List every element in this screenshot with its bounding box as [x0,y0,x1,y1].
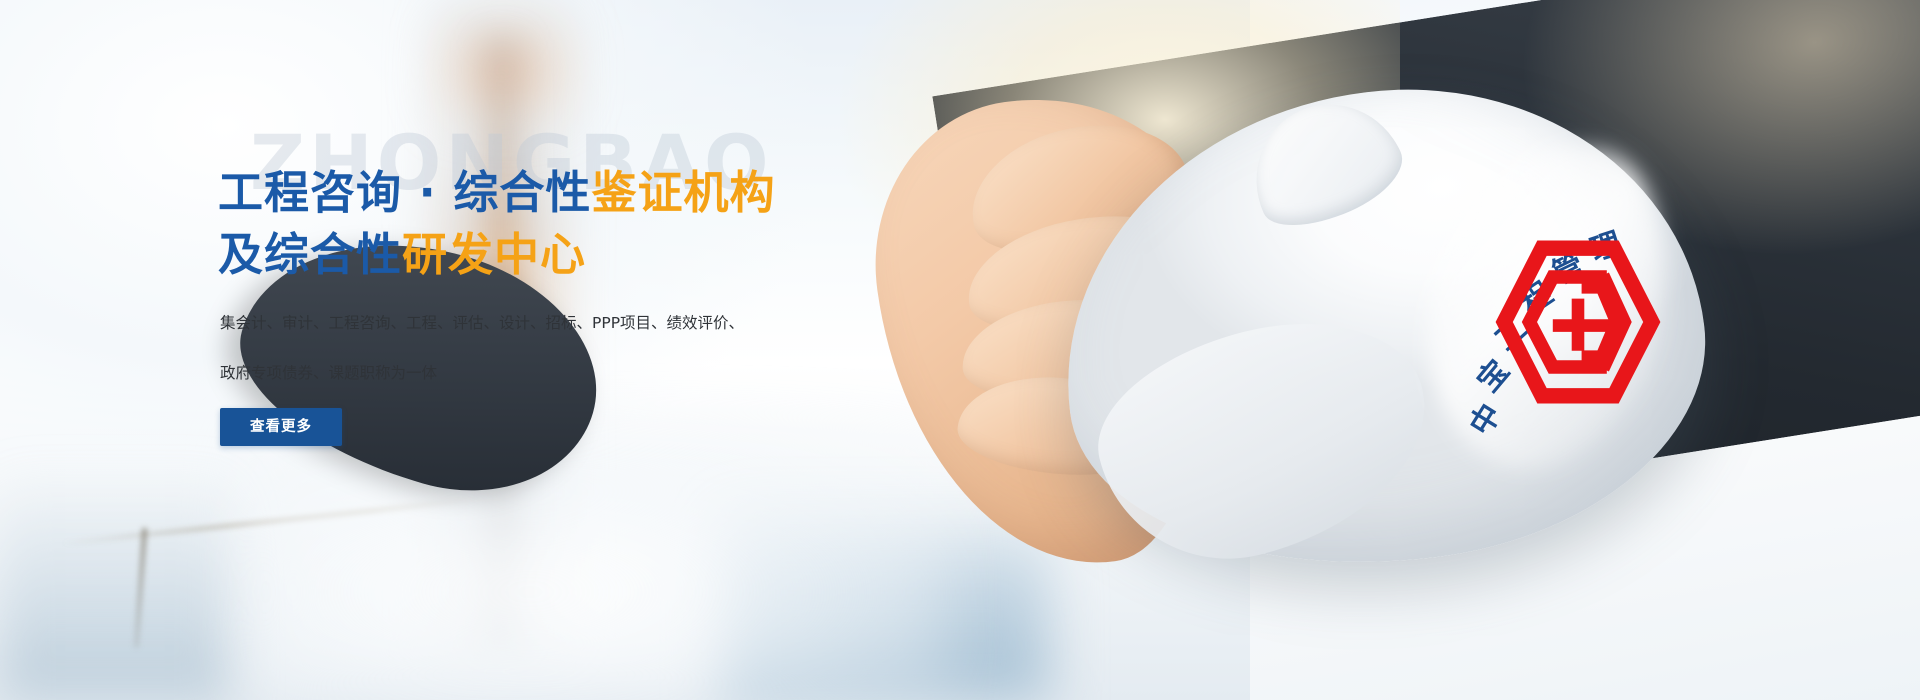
hero-description: 集会计、审计、工程咨询、工程、评估、设计、招标、PPP项目、绩效评价、 政府专项… [220,312,820,412]
hero-headline: 工程咨询 · 综合性鉴证机构 及综合性研发中心 [218,162,878,286]
view-more-button[interactable]: 查看更多 [220,408,342,446]
headline-line-1-orange: 鉴证机构 [591,166,775,219]
headline-line-1: 工程咨询 · 综合性鉴证机构 [218,162,878,224]
headline-line-2-blue: 及综合性 [218,228,402,281]
headline-line-2-orange: 研发中心 [402,228,586,281]
description-line-1: 集会计、审计、工程咨询、工程、评估、设计、招标、PPP项目、绩效评价、 [220,312,820,334]
description-line-2: 政府专项债券、课题职称为一体 [220,362,820,384]
hero-content: ZHONGBAO 工程咨询 · 综合性鉴证机构 及综合性研发中心 集会计、审计、… [218,0,898,700]
building-left-blur [0,470,230,700]
hexagon-emblem-icon [1488,232,1668,412]
headline-line-1-blue: 工程咨询 · 综合性 [218,166,591,219]
headline-line-2: 及综合性研发中心 [218,224,878,286]
hero-banner: 中 宝 工 程 管 理 ZHONGBAO [0,0,1920,700]
company-logo [1488,232,1668,412]
